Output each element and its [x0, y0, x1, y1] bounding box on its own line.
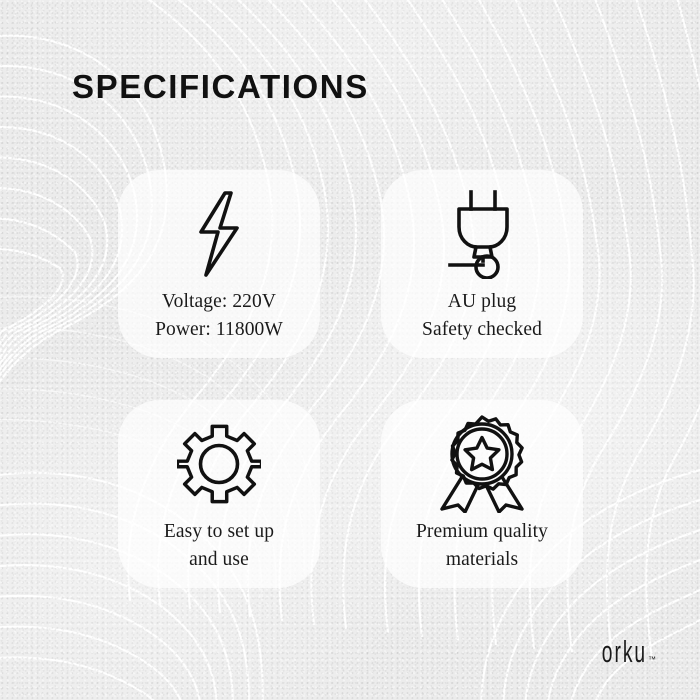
power-plug-icon	[446, 189, 518, 279]
card-icon-wrapper	[177, 416, 261, 512]
gear-icon	[177, 422, 261, 506]
award-rosette-icon	[436, 415, 528, 513]
spec-card-text: AU plug Safety checked	[422, 288, 542, 345]
card-icon-wrapper	[190, 186, 248, 282]
card-icon-wrapper	[436, 416, 528, 512]
spec-card-quality: Premium quality materials	[381, 400, 583, 588]
page-title: SPECIFICATIONS	[72, 68, 369, 106]
spec-card-setup: Easy to set up and use	[118, 400, 320, 588]
card-icon-wrapper	[446, 186, 518, 282]
spec-card-text: Premium quality materials	[416, 518, 548, 575]
spec-card-voltage: Voltage: 220V Power: 11800W	[118, 170, 320, 358]
brand-logo: orku ™	[574, 636, 656, 667]
lightning-bolt-icon	[190, 190, 248, 278]
spec-card-plug: AU plug Safety checked	[381, 170, 583, 358]
brand-wordmark: orku	[602, 636, 647, 667]
trademark-symbol: ™	[648, 656, 656, 664]
spec-card-text: Easy to set up and use	[164, 518, 274, 575]
specifications-page: SPECIFICATIONS Voltage: 220V Power: 1180…	[0, 0, 700, 700]
spec-card-text: Voltage: 220V Power: 11800W	[155, 288, 283, 345]
